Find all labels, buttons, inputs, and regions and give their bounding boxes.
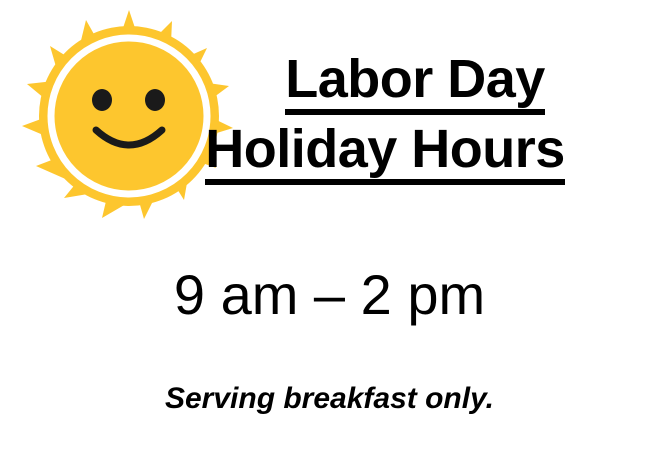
title-line-1-wrap: Labor Day	[180, 52, 650, 115]
left-eye	[92, 89, 112, 111]
note-text: Serving breakfast only.	[0, 382, 659, 416]
right-eye	[145, 89, 165, 111]
sun-graphic	[14, 8, 244, 228]
title-line-2-wrap: Holiday Hours	[120, 122, 650, 185]
title-line-2-text: Holiday Hours	[205, 122, 565, 185]
title-line-1: Labor Day	[180, 52, 650, 115]
title-line-1-text: Labor Day	[285, 52, 545, 115]
hours-text: 9 am – 2 pm	[0, 262, 659, 327]
poster-canvas: Labor Day Holiday Hours 9 am – 2 pm Serv…	[0, 0, 659, 454]
title-line-2: Holiday Hours	[120, 122, 650, 185]
